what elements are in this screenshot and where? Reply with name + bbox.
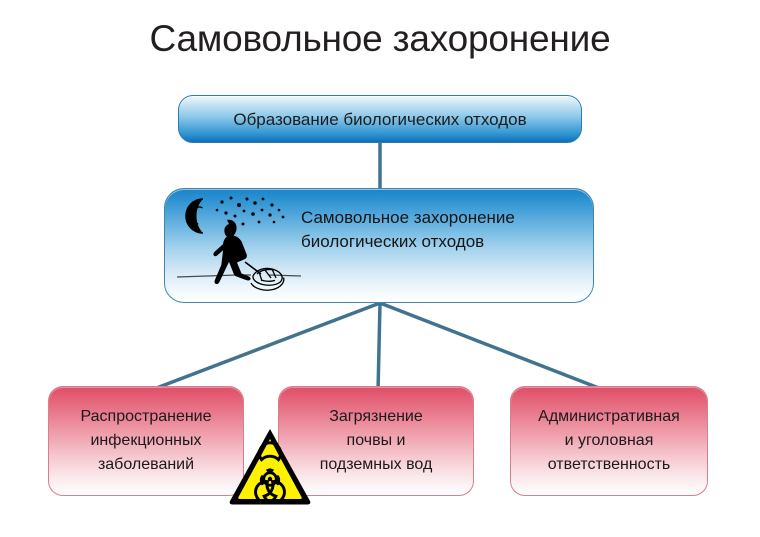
diagram-canvas: Самовольное захоронение Образование биол… — [0, 0, 760, 537]
node-waste-generation-label: Образование биологических отходов — [179, 109, 581, 130]
node-risk-1-line2: почвы и — [289, 429, 463, 453]
node-unauthorized-burial[interactable]: Самовольное захоронение биологических от… — [164, 188, 594, 303]
node-risk-0-line2: инфекционных — [59, 429, 233, 453]
node-risk-2-line1: Административная — [521, 405, 697, 429]
node-waste-generation[interactable]: Образование биологических отходов — [178, 95, 582, 143]
node-risk-1-line1: Загрязнение — [289, 405, 463, 429]
node-risk-0-label: Распространение инфекционных заболеваний — [49, 405, 243, 477]
node-unauthorized-burial-label-line1: Самовольное захоронение — [301, 206, 589, 230]
biohazard-warning-icon — [228, 427, 312, 505]
moon-icon — [186, 199, 203, 233]
node-unauthorized-burial-label: Самовольное захоронение биологических от… — [301, 206, 589, 254]
node-risk-2-line3: ответственность — [521, 453, 697, 477]
connector-act-to-risk-1 — [378, 303, 380, 392]
connector-act-to-risk-2 — [380, 303, 609, 392]
node-risk-legal-liability[interactable]: Административная и уголовная ответственн… — [510, 386, 708, 496]
node-risk-2-label: Административная и уголовная ответственн… — [511, 405, 707, 477]
connector-act-to-risk-0 — [146, 303, 380, 392]
dragged-bundle-icon — [251, 268, 284, 290]
page-title: Самовольное захоронение — [0, 16, 760, 62]
node-risk-infectious-diseases[interactable]: Распространение инфекционных заболеваний — [48, 386, 244, 496]
node-unauthorized-burial-label-line2: биологических отходов — [301, 230, 589, 254]
night-burial-illustration — [173, 193, 305, 300]
node-risk-1-line3: подземных вод — [289, 453, 463, 477]
node-risk-0-line1: Распространение — [59, 405, 233, 429]
node-risk-0-line3: заболеваний — [59, 453, 233, 477]
node-risk-2-line2: и уголовная — [521, 429, 697, 453]
stars-icon — [216, 197, 285, 226]
